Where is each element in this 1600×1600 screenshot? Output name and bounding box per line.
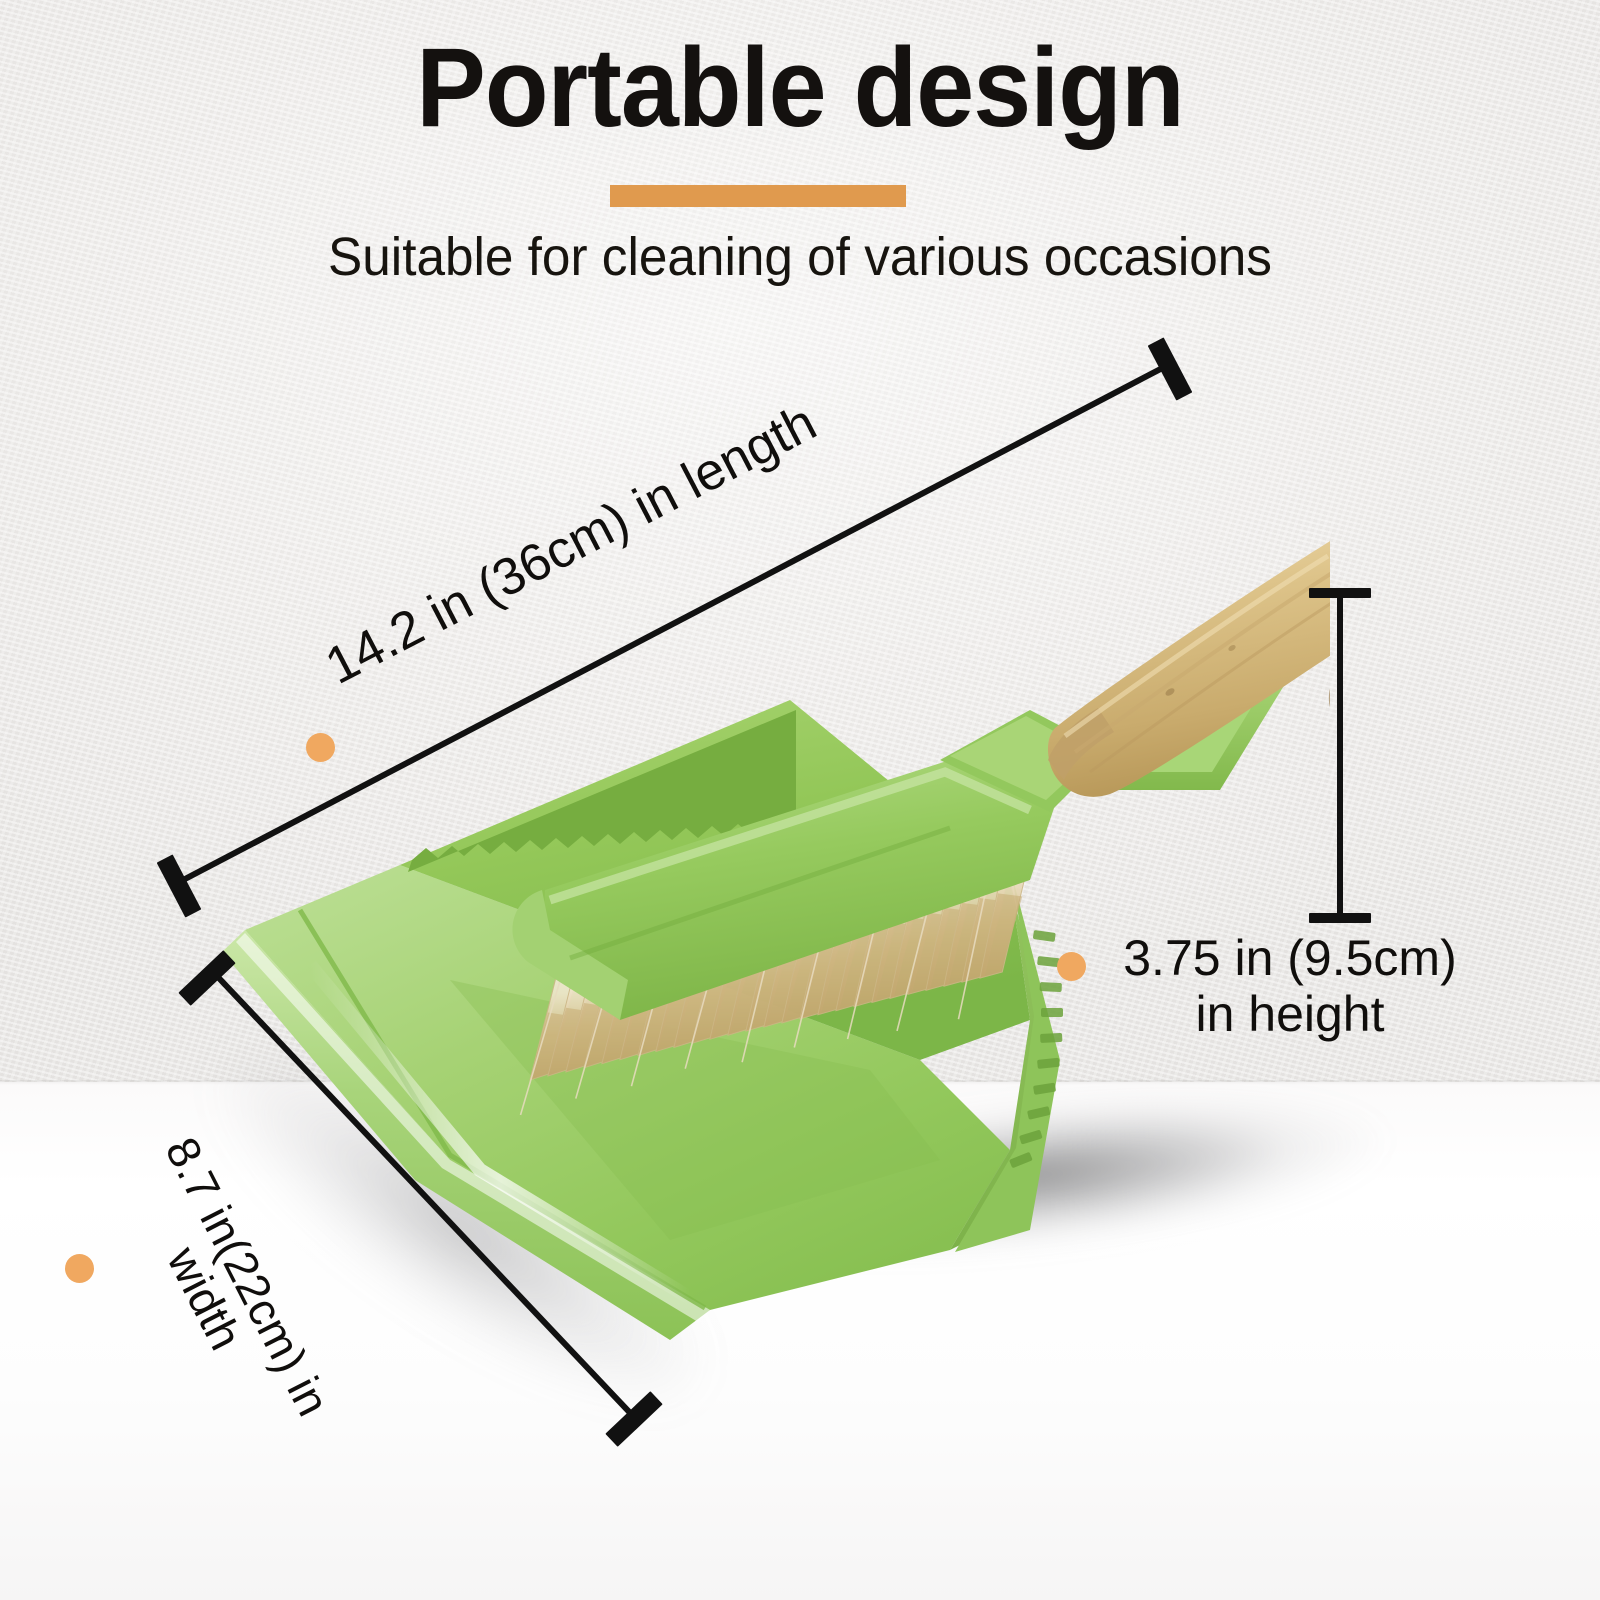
height-label-line2: in height [1090,986,1490,1042]
page-title: Portable design [56,28,1544,149]
height-dimension-line [1337,591,1343,923]
height-label-line1: 3.75 in (9.5cm) [1090,930,1490,986]
height-tick-top [1309,588,1371,598]
height-bullet-dot [1057,952,1086,981]
height-label: 3.75 in (9.5cm) in height [1090,930,1490,1042]
page-subtitle: Suitable for cleaning of various occasio… [40,228,1560,287]
brush [150,460,1330,1380]
title-divider-bar [610,185,906,207]
product-image [150,460,1330,1380]
height-tick-bottom [1309,913,1371,923]
infographic-page: Portable design Suitable for cleaning of… [0,0,1600,1600]
width-bullet-dot [65,1254,94,1283]
length-bullet-dot [306,733,335,762]
